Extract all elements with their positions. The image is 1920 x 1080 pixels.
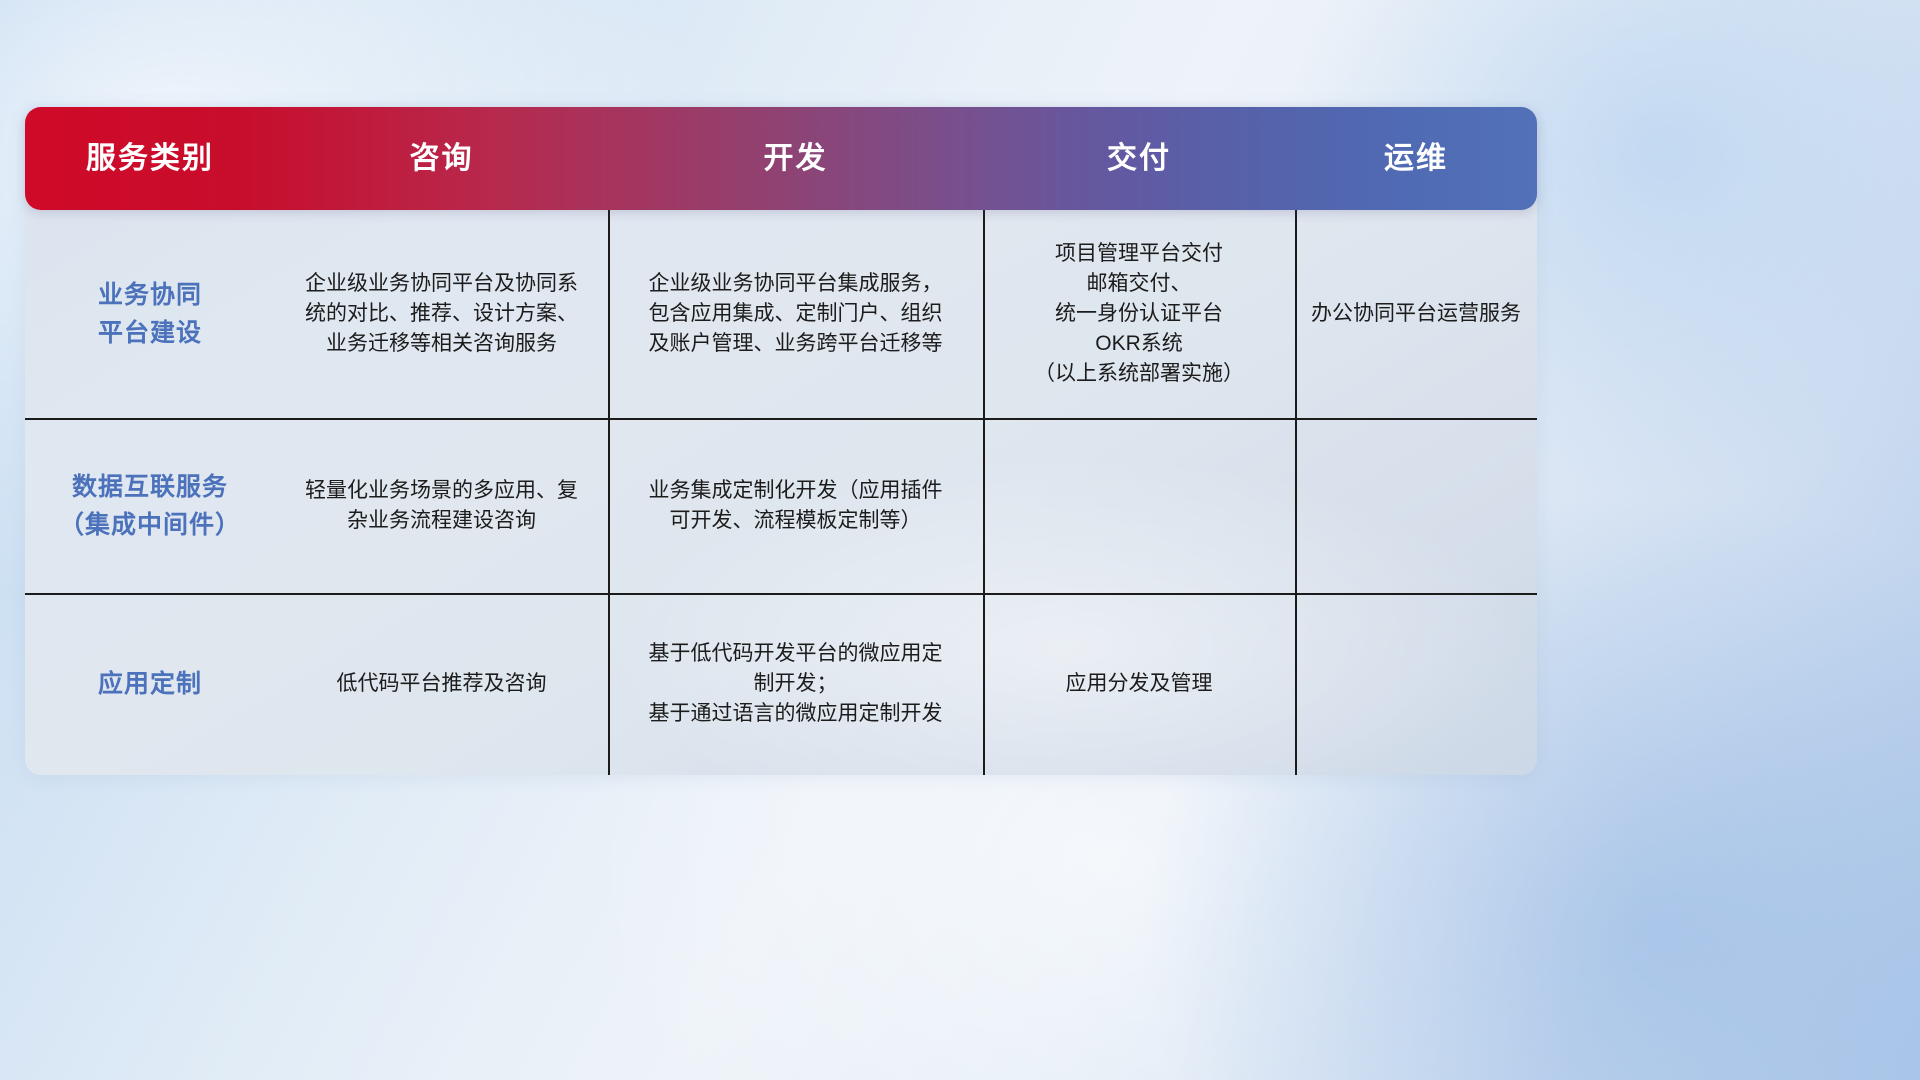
cell-r1-consulting: 企业级业务协同平台及协同系 统的对比、推荐、设计方案、 业务迁移等相关咨询服务 xyxy=(275,210,608,418)
cell-r3-consulting: 低代码平台推荐及咨询 xyxy=(275,593,608,775)
table-header-row: 服务类别 咨询 开发 交付 运维 xyxy=(25,107,1537,210)
cell-r3-development: 基于低代码开发平台的微应用定 制开发； 基于通过语言的微应用定制开发 xyxy=(608,593,983,775)
cell-r2-operations xyxy=(1295,418,1537,593)
cell-r3-delivery: 应用分发及管理 xyxy=(983,593,1295,775)
column-header-consulting: 咨询 xyxy=(275,144,608,174)
column-header-delivery: 交付 xyxy=(983,144,1295,174)
column-header-service-category: 服务类别 xyxy=(25,144,275,174)
row-label-data-interconnect: 数据互联服务 （集成中间件） xyxy=(25,418,275,593)
column-header-operations: 运维 xyxy=(1295,144,1537,174)
service-matrix-table: 服务类别 咨询 开发 交付 运维 业务协同 平台建设 企业级业务协同平台及协同系… xyxy=(25,107,1537,775)
cell-r1-delivery: 项目管理平台交付 邮箱交付、 统一身份认证平台 OKR系统 （以上系统部署实施） xyxy=(983,210,1295,418)
table-body-grid: 业务协同 平台建设 企业级业务协同平台及协同系 统的对比、推荐、设计方案、 业务… xyxy=(25,210,1537,775)
cell-r3-operations xyxy=(1295,593,1537,775)
table-row: 应用定制 低代码平台推荐及咨询 基于低代码开发平台的微应用定 制开发； 基于通过… xyxy=(25,593,1537,775)
cell-r1-operations: 办公协同平台运营服务 xyxy=(1295,210,1537,418)
column-header-development: 开发 xyxy=(608,144,983,174)
table-row: 数据互联服务 （集成中间件） 轻量化业务场景的多应用、复 杂业务流程建设咨询 业… xyxy=(25,418,1537,593)
cell-r1-development: 企业级业务协同平台集成服务， 包含应用集成、定制门户、组织 及账户管理、业务跨平… xyxy=(608,210,983,418)
row-label-application-customization: 应用定制 xyxy=(25,593,275,775)
table-card: 服务类别 咨询 开发 交付 运维 业务协同 平台建设 企业级业务协同平台及协同系… xyxy=(25,107,1537,775)
cell-r2-delivery xyxy=(983,418,1295,593)
row-label-business-collaboration: 业务协同 平台建设 xyxy=(25,210,275,418)
cell-r2-development: 业务集成定制化开发（应用插件 可开发、流程模板定制等） xyxy=(608,418,983,593)
cell-r2-consulting: 轻量化业务场景的多应用、复 杂业务流程建设咨询 xyxy=(275,418,608,593)
table-row: 业务协同 平台建设 企业级业务协同平台及协同系 统的对比、推荐、设计方案、 业务… xyxy=(25,210,1537,418)
